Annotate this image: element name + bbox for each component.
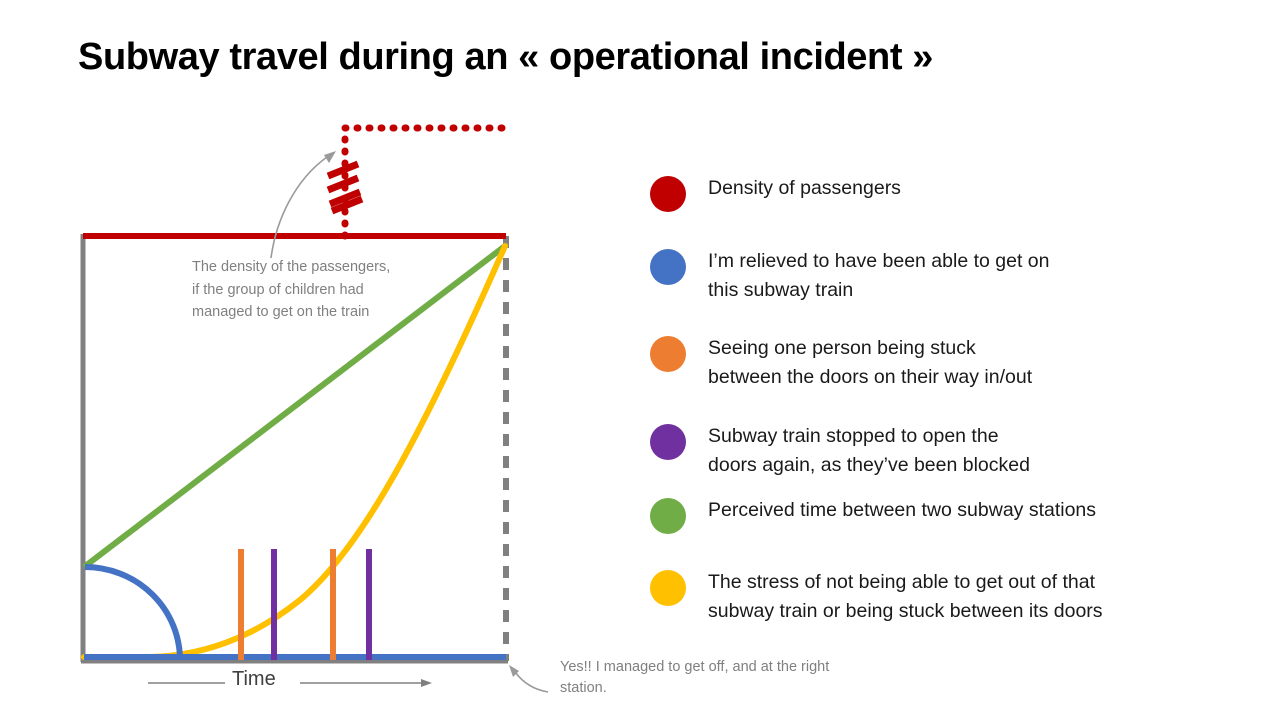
x-axis-label: Time (232, 668, 276, 691)
chart-plot (0, 0, 640, 720)
legend-item-perceived-time[interactable]: Perceived time between two subway statio… (650, 496, 1096, 534)
series-relief-arc (85, 567, 180, 660)
legend-item-door-reopen[interactable]: Subway train stopped to open the doors a… (650, 422, 1030, 480)
legend-label-density: Density of passengers (708, 174, 901, 203)
legend-dot-green-icon (650, 498, 686, 534)
legend-item-stuck-doors[interactable]: Seeing one person being stuck between th… (650, 334, 1032, 392)
legend-label-door-reopen: Subway train stopped to open the doors a… (708, 422, 1030, 480)
legend-label-stress: The stress of not being able to get out … (708, 568, 1103, 626)
time-axis-arrow (148, 679, 432, 687)
annotation-exit-caption: Yes!! I managed to get off, and at the r… (560, 657, 830, 699)
legend-dot-yellow-icon (650, 570, 686, 606)
legend-dot-blue-icon (650, 249, 686, 285)
slide: Subway travel during an « operational in… (0, 0, 1280, 720)
annotation-density-note: The density of the passengers, if the gr… (192, 256, 392, 324)
legend-label-perceived-time: Perceived time between two subway statio… (708, 496, 1096, 525)
legend-item-relieved[interactable]: I’m relieved to have been able to get on… (650, 247, 1049, 305)
exit-caption-arrow (509, 665, 548, 692)
series-density-hypothetical (345, 128, 505, 236)
legend-item-stress[interactable]: The stress of not being able to get out … (650, 568, 1103, 626)
legend-dot-orange-icon (650, 336, 686, 372)
chart-figure: The density of the passengers, if the gr… (0, 0, 640, 720)
legend-dot-red-icon (650, 176, 686, 212)
legend-dot-purple-icon (650, 424, 686, 460)
annotation-arrow-up (271, 151, 336, 258)
legend-label-stuck-doors: Seeing one person being stuck between th… (708, 334, 1032, 392)
legend-item-density[interactable]: Density of passengers (650, 174, 901, 212)
legend-label-relieved: I’m relieved to have been able to get on… (708, 247, 1049, 305)
